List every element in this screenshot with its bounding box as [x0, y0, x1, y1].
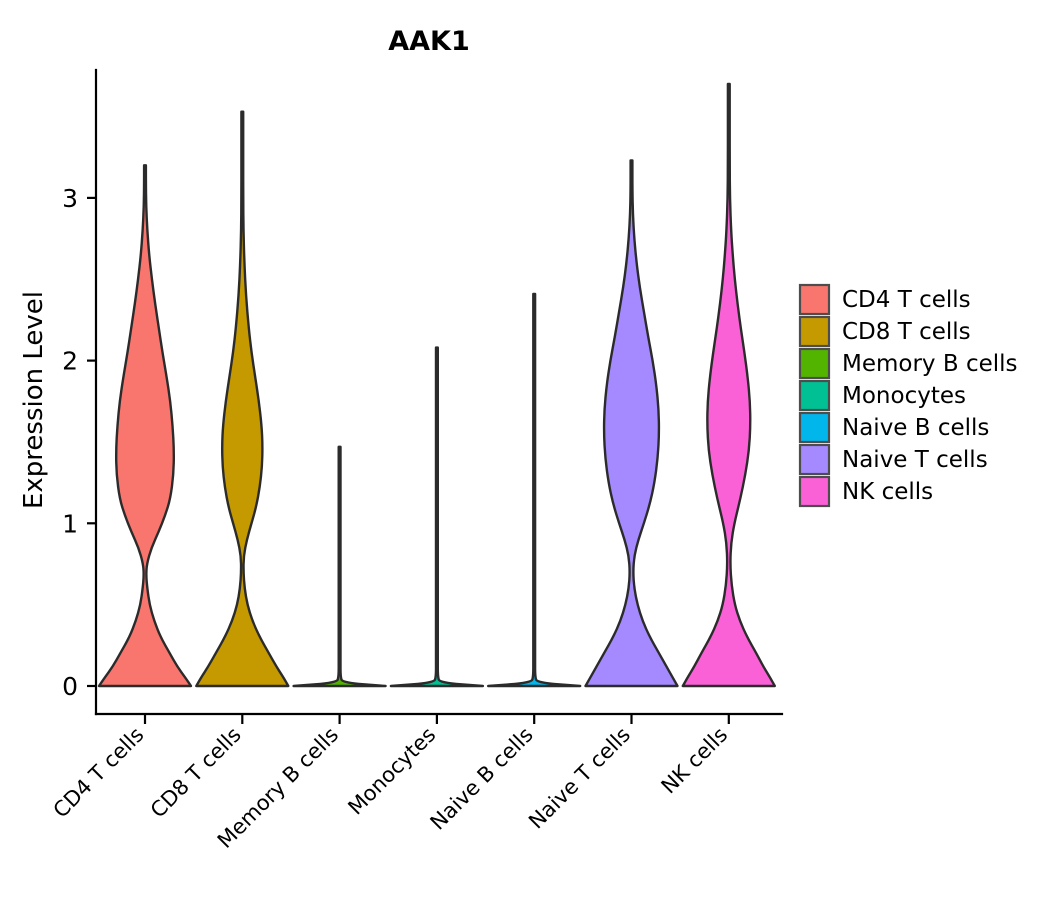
legend-swatch-cd4-t-cells[interactable] [800, 285, 829, 314]
legend-swatch-monocytes[interactable] [800, 381, 829, 410]
x-tick-label: Naive T cells [524, 723, 635, 834]
x-tick-label: CD8 T cells [146, 723, 246, 823]
legend-swatch-naive-b-cells[interactable] [800, 413, 829, 442]
violin-memory-b-cells [294, 447, 386, 686]
legend-label-naive-t-cells[interactable]: Naive T cells [842, 447, 988, 473]
legend-label-cd8-t-cells[interactable]: CD8 T cells [842, 319, 971, 345]
violin-naive-t-cells [586, 160, 678, 686]
y-axis-title: Expression Level [19, 291, 49, 509]
legend: CD4 T cellsCD8 T cellsMemory B cellsMono… [800, 285, 1018, 506]
y-axis-ticks: 0123 [62, 184, 96, 701]
x-axis-tick-labels: CD4 T cellsCD8 T cellsMemory B cellsMono… [49, 723, 733, 853]
x-tick-label: NK cells [657, 723, 733, 799]
violin-naive-b-cells [488, 294, 580, 686]
legend-label-cd4-t-cells[interactable]: CD4 T cells [842, 287, 971, 313]
legend-label-memory-b-cells[interactable]: Memory B cells [842, 351, 1018, 377]
x-tick-label: CD4 T cells [49, 723, 149, 823]
y-tick-label: 3 [62, 184, 78, 213]
violin-series-group [99, 84, 775, 686]
legend-label-naive-b-cells[interactable]: Naive B cells [842, 415, 989, 441]
legend-swatch-memory-b-cells[interactable] [800, 349, 829, 378]
violin-monocytes [391, 348, 483, 686]
violin-cd8-t-cells [196, 112, 288, 686]
legend-swatch-naive-t-cells[interactable] [800, 445, 829, 474]
legend-swatch-cd8-t-cells[interactable] [800, 317, 829, 346]
violin-plot-figure: AAK1 Expression Level 0123 CD4 T cellsCD… [0, 0, 1050, 900]
y-tick-label: 0 [62, 672, 78, 701]
y-tick-label: 2 [62, 347, 78, 376]
violin-cd4-t-cells [99, 165, 191, 686]
x-axis-ticks [145, 714, 729, 724]
x-tick-label: Monocytes [343, 723, 440, 820]
violin-nk-cells [683, 84, 775, 686]
figure-canvas: AAK1 Expression Level 0123 CD4 T cellsCD… [0, 0, 1050, 900]
legend-label-monocytes[interactable]: Monocytes [842, 383, 966, 409]
legend-label-nk-cells[interactable]: NK cells [842, 479, 933, 505]
y-tick-label: 1 [62, 509, 78, 538]
legend-swatch-nk-cells[interactable] [800, 477, 829, 506]
page-title: AAK1 [388, 26, 470, 57]
x-tick-label: Naive B cells [426, 723, 538, 835]
